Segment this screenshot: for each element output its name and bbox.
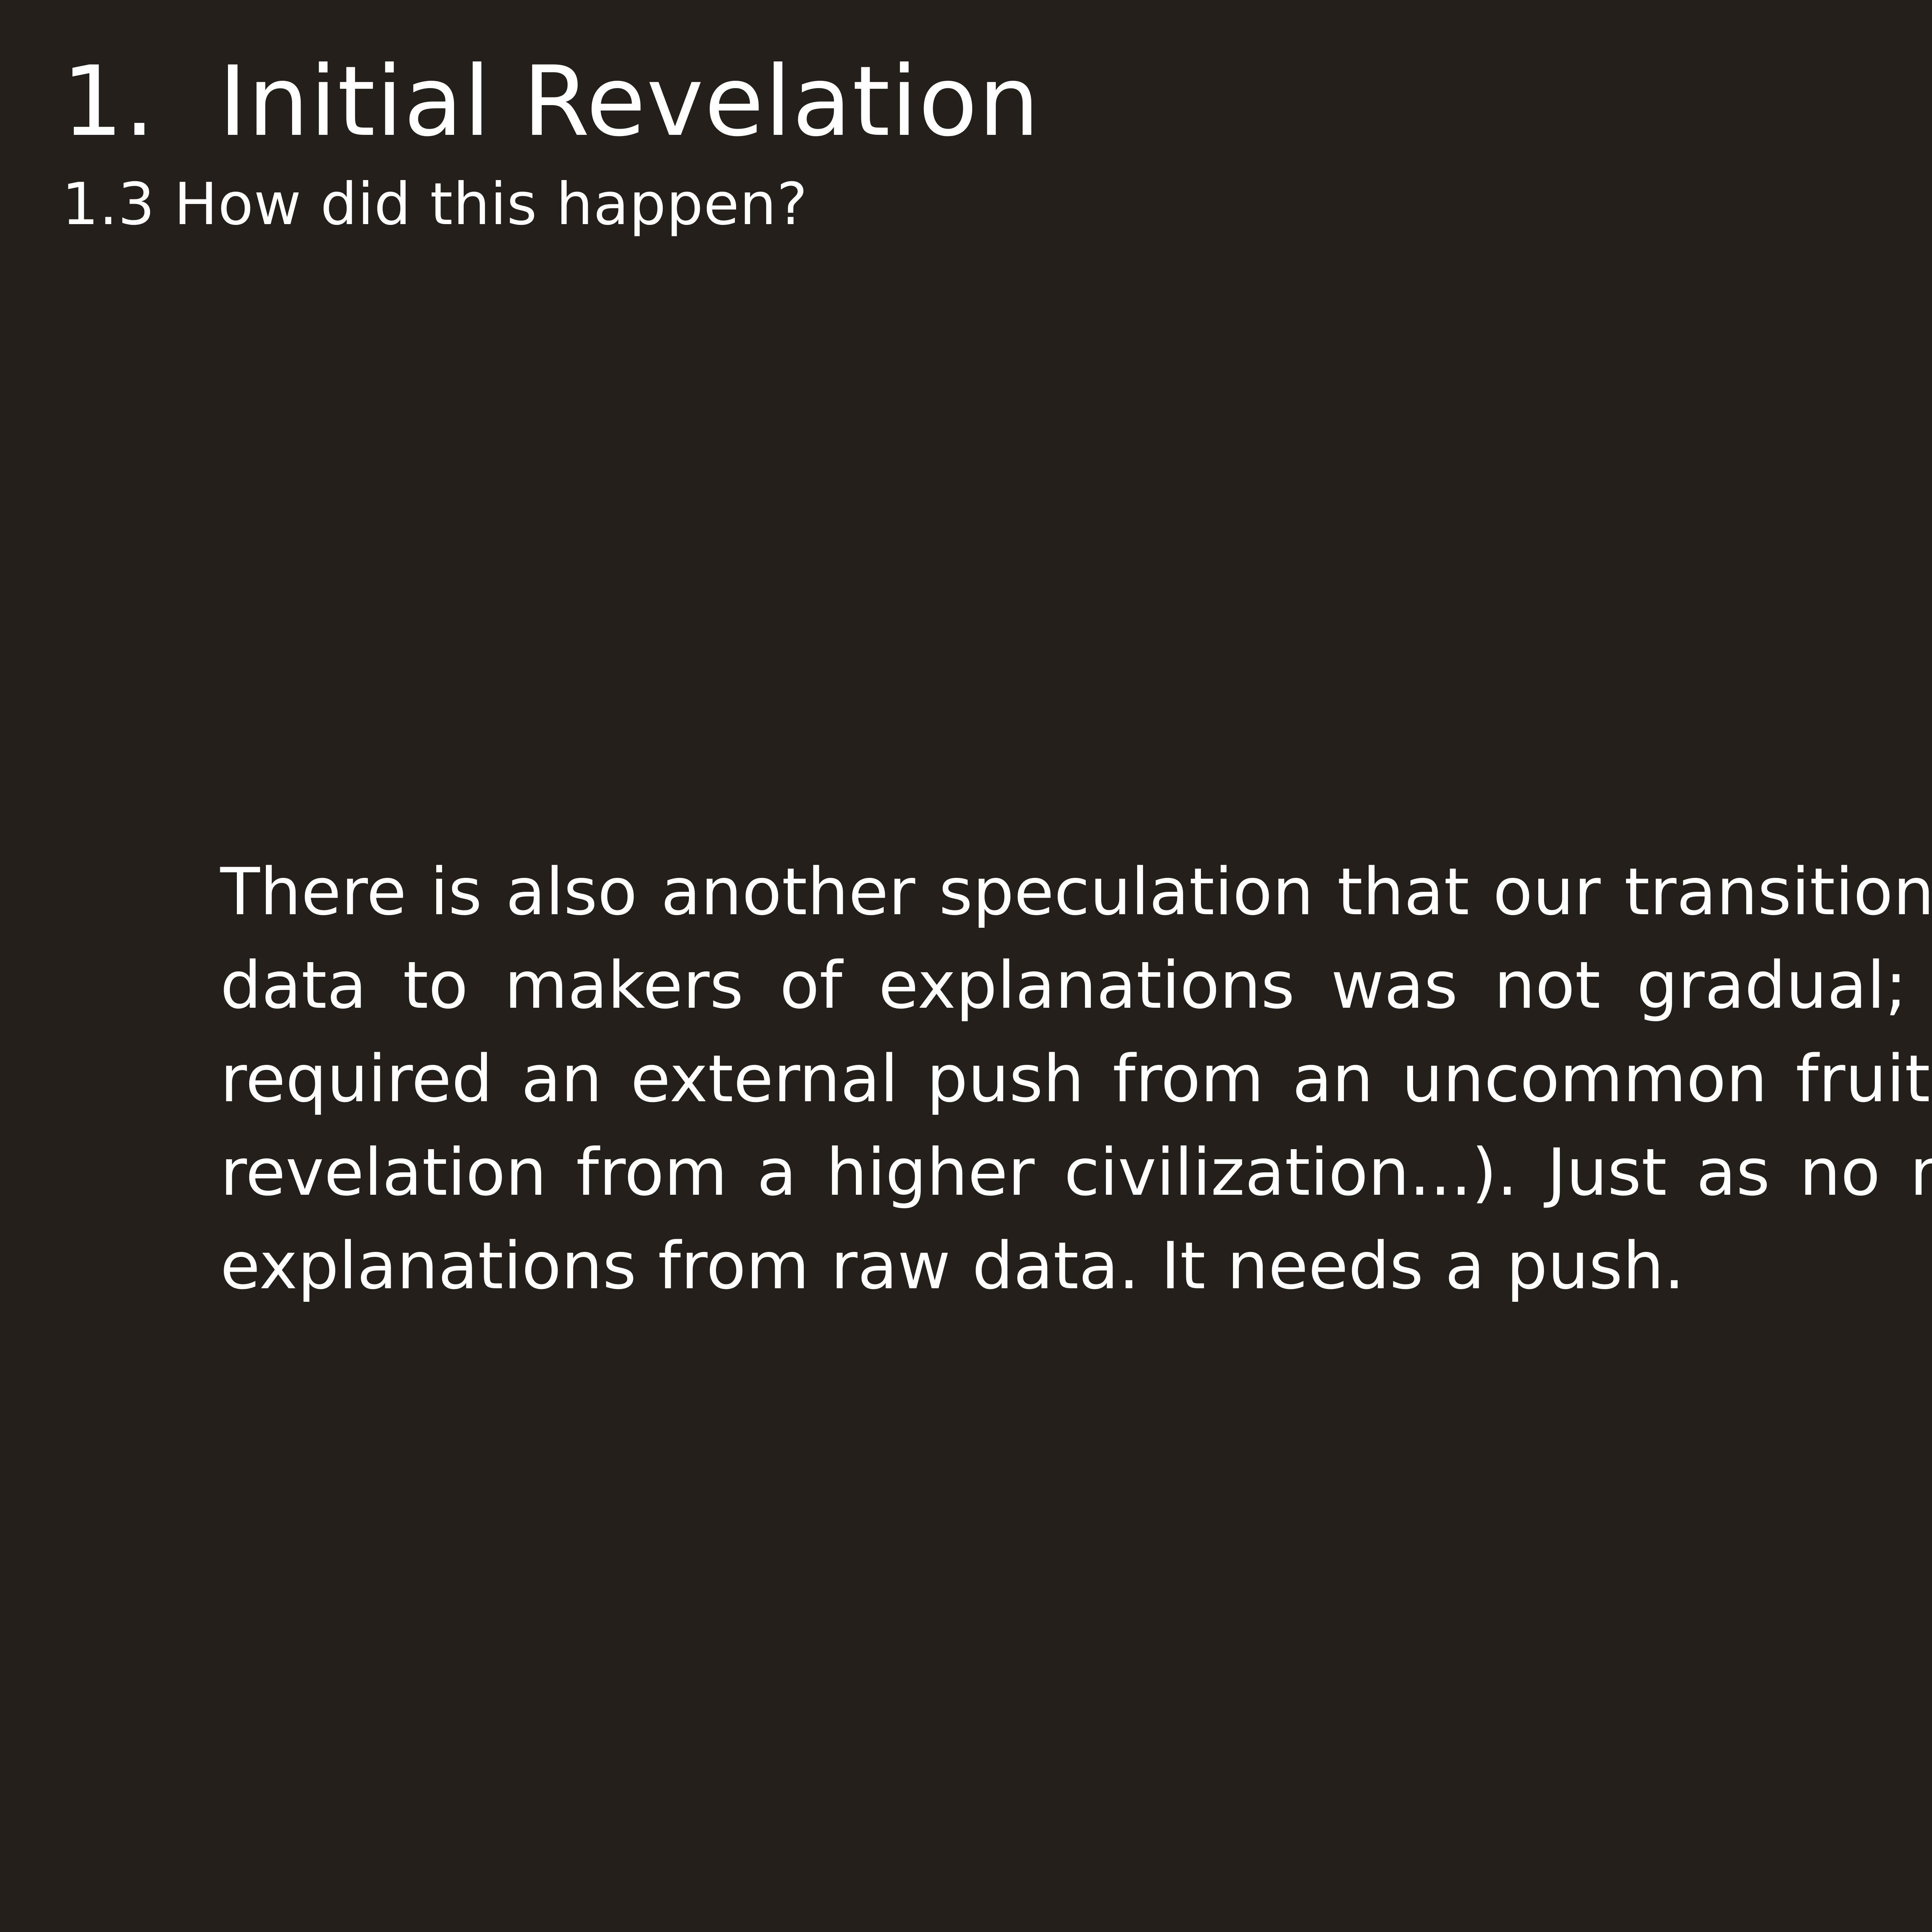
- slide-body: There is also another speculation that o…: [220, 781, 1932, 1378]
- slide-subtitle: 1.3 How did this happen?: [62, 173, 1932, 236]
- presentation-slide: 1. Initial Revelation 1.3 How did this h…: [0, 0, 1932, 1932]
- body-paragraph: There is also another speculation that o…: [220, 845, 1932, 1313]
- slide-header: 1. Initial Revelation 1.3 How did this h…: [62, 50, 1932, 236]
- page-title: 1. Initial Revelation: [62, 50, 1932, 153]
